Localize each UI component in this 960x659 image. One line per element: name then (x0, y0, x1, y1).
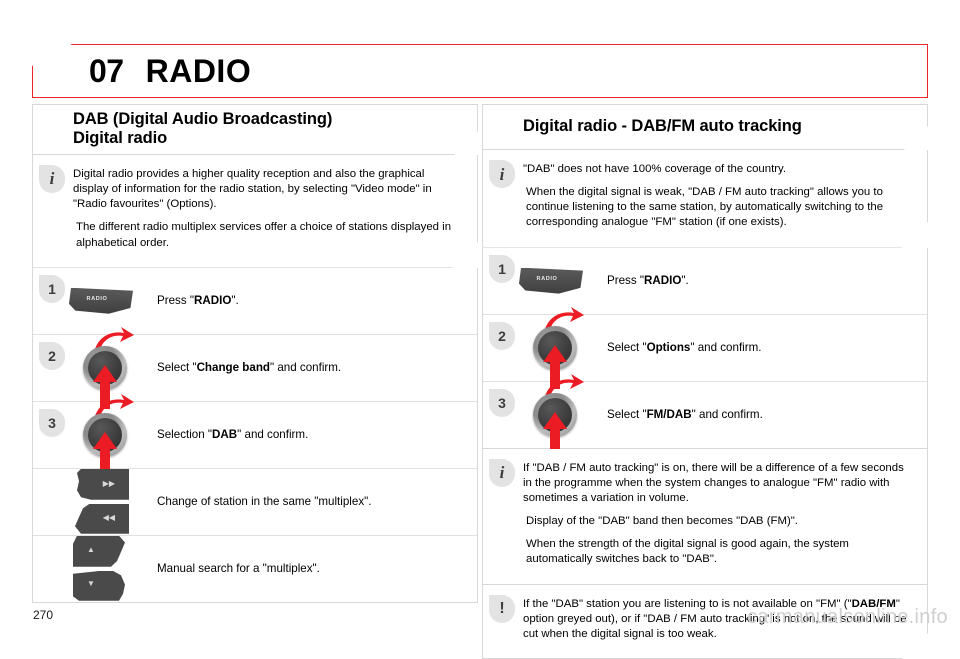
info-box-auto-tracking: i "DAB" does not have 100% coverage of t… (482, 150, 928, 248)
step-badge: 3 (489, 389, 515, 417)
page-number: 270 (33, 608, 53, 622)
seek-rocker-icon[interactable]: ▶▶ ◀◀ (73, 469, 133, 535)
radio-hard-key-icon[interactable]: RADIO (69, 288, 133, 314)
info-icon: i (39, 165, 65, 193)
step-text-before: Select " (607, 341, 647, 354)
step-text: Select "Change band" and confirm. (157, 360, 351, 375)
step-text-before: Select " (607, 408, 647, 421)
info-box-tracking-details: i If "DAB / FM auto tracking" is on, the… (482, 449, 928, 585)
chapter-title-banner: 07 RADIO (32, 44, 928, 98)
step-row: 2 Select "Change band" and confirm. (33, 335, 477, 402)
section-header-dab: DAB (Digital Audio Broadcasting) Digital… (32, 104, 478, 155)
page-title: RADIO (146, 55, 252, 87)
section-header-line2: Digital radio (73, 129, 167, 147)
step-badge: 3 (39, 409, 65, 437)
step-text-after: ". (681, 274, 688, 287)
seek-back-key[interactable]: ◀◀ (73, 503, 129, 534)
watermark: carmanualsonline.info (747, 606, 948, 629)
arrow-up-icon: ▲ (87, 546, 95, 554)
section-header-auto-tracking: Digital radio - DAB/FM auto tracking (482, 104, 928, 150)
step-text-after: ". (231, 294, 238, 307)
steps-list-dab: 1 RADIO Press "RADIO". 2 (32, 268, 478, 603)
step-text-after: " and confirm. (692, 408, 763, 421)
seek-forward-key[interactable]: ▶▶ (73, 469, 129, 500)
step-text-after: " and confirm. (690, 341, 761, 354)
step-badge: 2 (489, 322, 515, 350)
info-paragraph: Digital radio provides a higher quality … (73, 167, 463, 212)
step-badge: 1 (489, 255, 515, 283)
step-text-before: Selection " (157, 428, 212, 441)
section-header-line1: DAB (Digital Audio Broadcasting) (73, 110, 332, 128)
step-text-bold: RADIO (644, 274, 681, 287)
step-text: Select "FM/DAB" and confirm. (607, 407, 773, 422)
step-text: Select "Options" and confirm. (607, 340, 772, 355)
radio-key-label: RADIO (86, 296, 107, 302)
section-header-text: Digital radio - DAB/FM auto tracking (523, 117, 802, 136)
info-icon: i (489, 160, 515, 188)
key-divider (73, 500, 129, 504)
info-paragraph: When the strength of the digital signal … (523, 537, 913, 567)
step-text-before: Press " (157, 294, 194, 307)
step-text: Press "RADIO". (607, 273, 699, 288)
step-text-before: Select " (157, 361, 197, 374)
info-icon: i (489, 459, 515, 487)
step-text-bold: Options (647, 341, 691, 354)
step-text-after: " and confirm. (270, 361, 341, 374)
step-row: ▲ ▼ Manual search for a "multiplex". (33, 536, 477, 602)
step-row: ▶▶ ◀◀ Change of station in the same "mul… (33, 469, 477, 536)
rotary-knob-icon[interactable] (71, 396, 149, 474)
info-paragraph: Display of the "DAB" band then becomes "… (523, 514, 913, 529)
step-text: Manual search for a "multiplex". (157, 561, 330, 576)
info-paragraph: If "DAB / FM auto tracking" is on, there… (523, 461, 913, 506)
step-text: Selection "DAB" and confirm. (157, 427, 318, 442)
step-badge: 2 (39, 342, 65, 370)
step-row: 3 Selection "DAB" and confirm. (33, 402, 477, 469)
warning-icon: ! (489, 595, 515, 623)
radio-key-label: RADIO (536, 276, 557, 282)
step-row: 2 Select "Options" and confirm. (483, 315, 927, 382)
step-text-before: Press " (607, 274, 644, 287)
tune-down-key[interactable]: ▼ (73, 570, 129, 601)
steps-list-auto-tracking: 1 RADIO Press "RADIO". 2 (482, 248, 928, 449)
info-paragraph: When the digital signal is weak, "DAB / … (523, 185, 913, 230)
step-row: 1 RADIO Press "RADIO". (483, 248, 927, 315)
step-row: 1 RADIO Press "RADIO". (33, 268, 477, 335)
rewind-icon: ◀◀ (103, 514, 115, 522)
step-row: 3 Select "FM/DAB" and confirm. (483, 382, 927, 448)
key-divider (73, 567, 129, 571)
right-column: Digital radio - DAB/FM auto tracking i "… (482, 104, 928, 659)
arrow-down-icon: ▼ (87, 580, 95, 588)
fast-forward-icon: ▶▶ (103, 480, 115, 488)
chapter-number: 07 (89, 55, 124, 87)
step-text-bold: DAB (212, 428, 237, 441)
radio-hard-key-icon[interactable]: RADIO (519, 268, 583, 294)
step-text-bold: RADIO (194, 294, 231, 307)
step-text: Change of station in the same "multiplex… (157, 494, 381, 509)
rotary-knob-icon[interactable] (521, 376, 599, 454)
step-text-bold: Change band (197, 361, 270, 374)
info-paragraph: "DAB" does not have 100% coverage of the… (523, 162, 913, 177)
info-box-dab: i Digital radio provides a higher qualit… (32, 155, 478, 268)
step-badge: 1 (39, 275, 65, 303)
step-text: Press "RADIO". (157, 293, 249, 308)
info-paragraph: The different radio multiplex services o… (73, 220, 463, 250)
left-column: DAB (Digital Audio Broadcasting) Digital… (32, 104, 478, 603)
step-text-bold: FM/DAB (647, 408, 692, 421)
tune-rocker-icon[interactable]: ▲ ▼ (73, 536, 133, 602)
step-text-after: " and confirm. (237, 428, 308, 441)
tune-up-key[interactable]: ▲ (73, 536, 129, 567)
